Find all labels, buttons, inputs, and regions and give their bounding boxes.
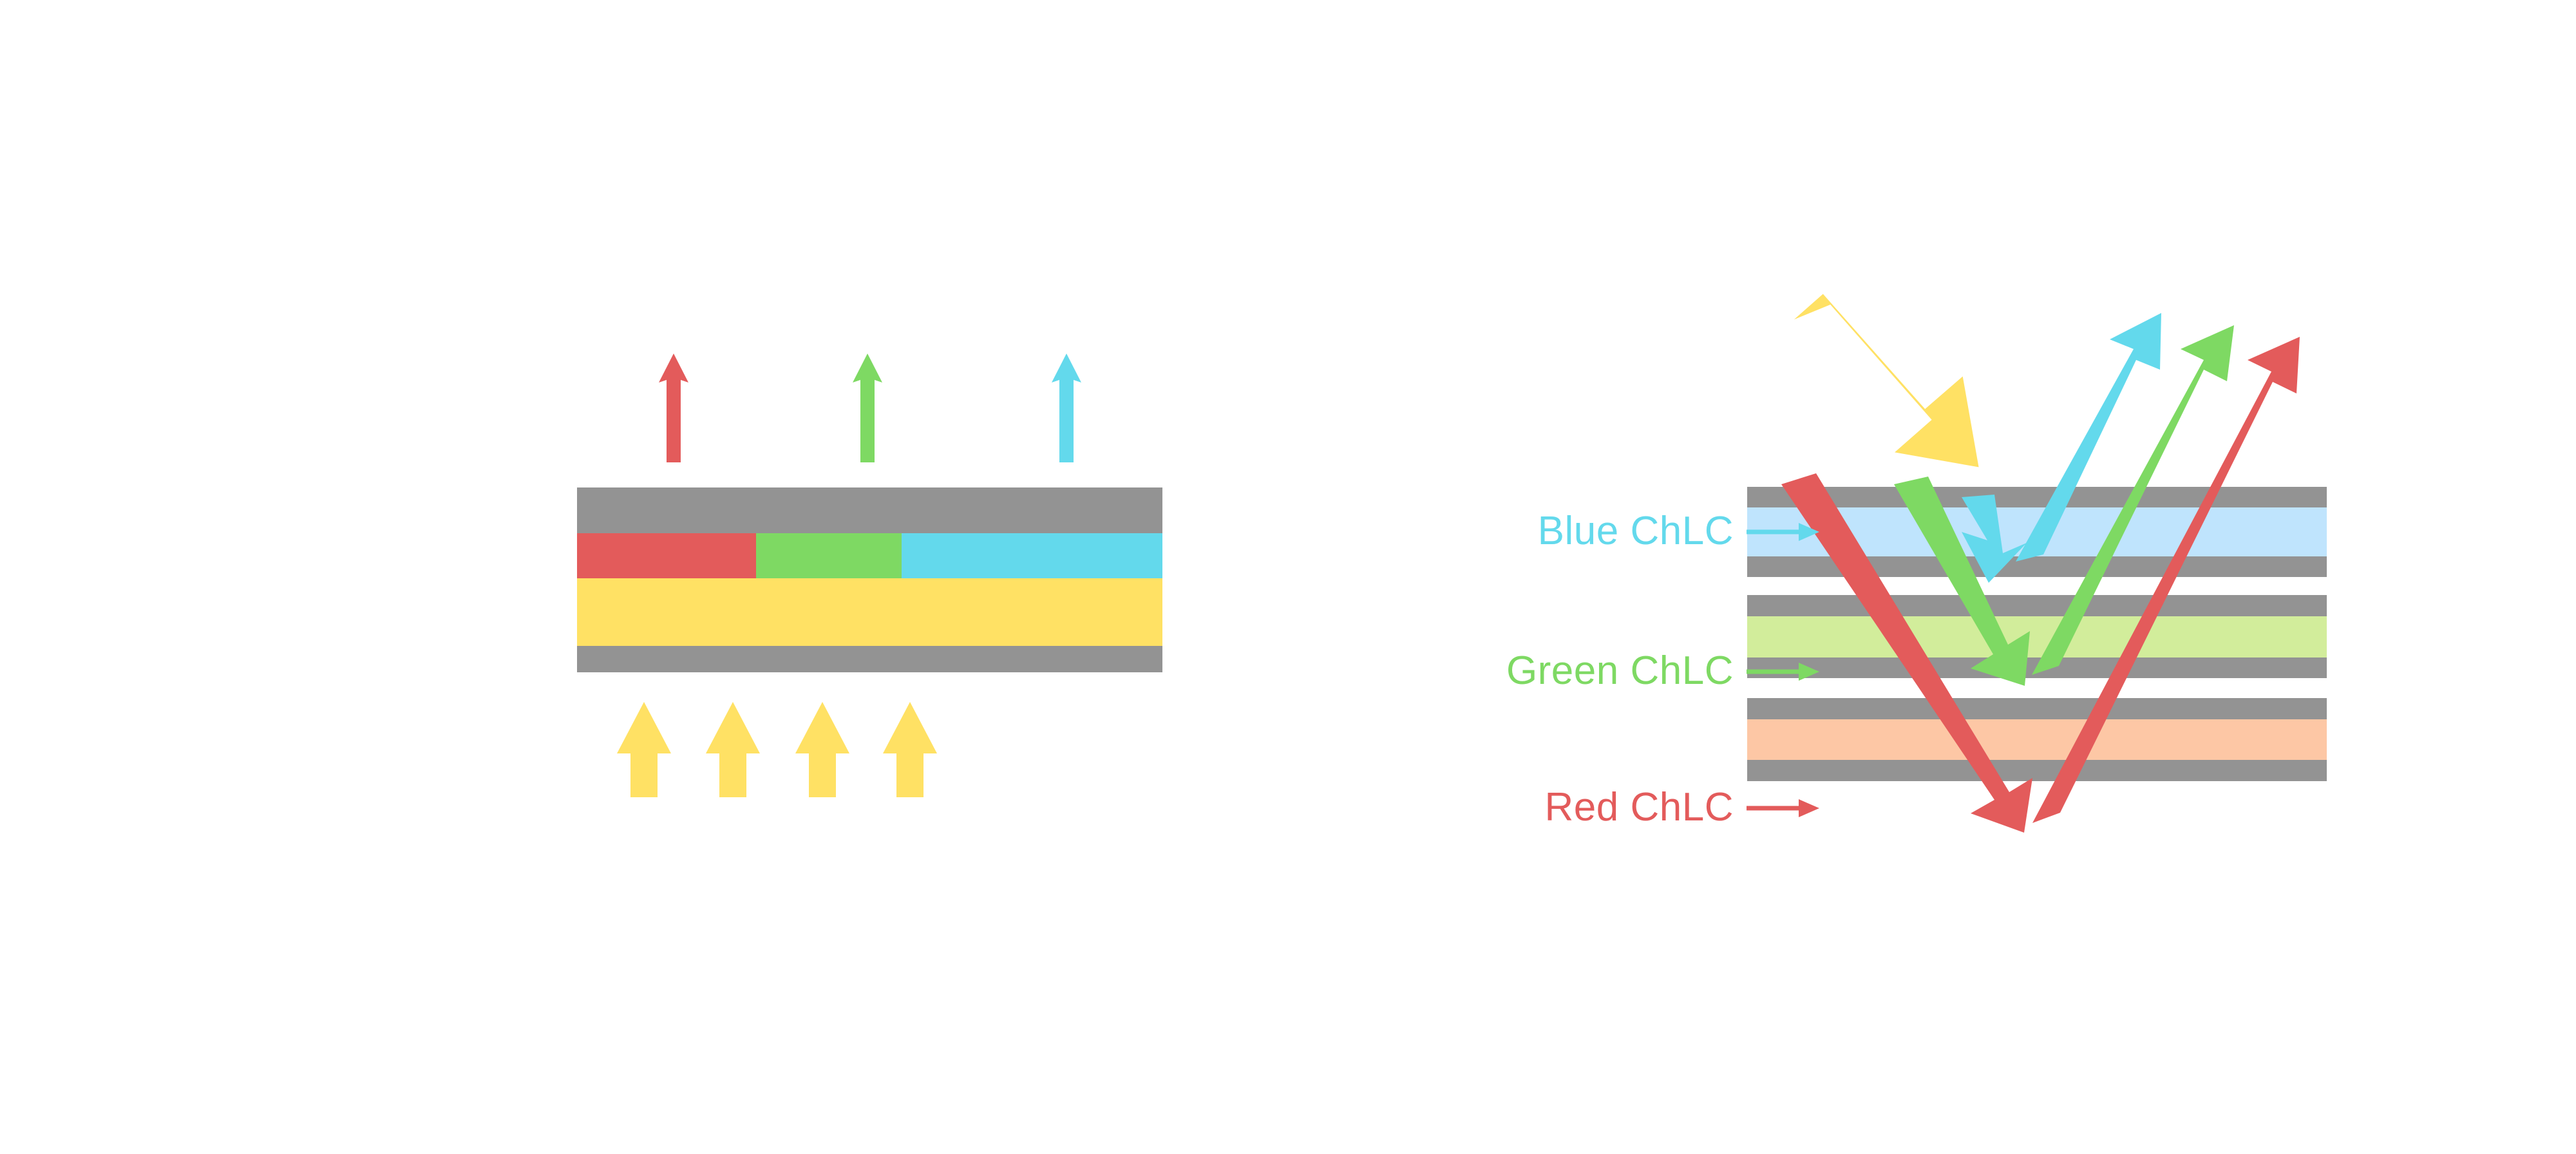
green-filter-segment [756, 533, 902, 578]
green-chlc-label-text: Green ChLC [1506, 648, 1734, 693]
top-gray-substrate [577, 487, 1162, 533]
red-cell-top-electrode [1747, 698, 2327, 719]
blue-filter-segment [902, 533, 1162, 578]
diagram-canvas: Blue ChLC Green ChLC Red ChLC [0, 0, 2576, 1154]
red-chlc-label-text: Red ChLC [1545, 785, 1734, 829]
diagram-svg: Blue ChLC Green ChLC Red ChLC [0, 0, 2576, 1154]
left-stack [577, 487, 1162, 672]
backlight-arrow-2 [706, 702, 760, 797]
backlight-arrow-1 [617, 702, 671, 797]
backlight-arrow-4 [883, 702, 937, 797]
green-cell-top-electrode [1747, 595, 2327, 616]
right-panel: Blue ChLC Green ChLC Red ChLC [1506, 276, 2327, 833]
incident-white-light-arrow [1791, 276, 1978, 489]
left-panel [577, 354, 1162, 797]
emitted-blue-arrow [1052, 354, 1081, 462]
red-chlc-layer [1747, 719, 2327, 760]
red-chlc-label: Red ChLC [1545, 785, 1819, 829]
bottom-gray-substrate [577, 646, 1162, 672]
emitted-red-arrow [659, 354, 688, 462]
red-filter-segment [577, 533, 756, 578]
blue-chlc-label-text: Blue ChLC [1538, 509, 1734, 553]
green-chlc-layer [1747, 616, 2327, 657]
red-chlc-label-arrow-icon [1747, 799, 1819, 817]
red-cell-bottom-electrode [1747, 760, 2327, 781]
yellow-backlight-layer [577, 578, 1162, 646]
emitted-green-arrow [853, 354, 882, 462]
backlight-arrow-3 [795, 702, 849, 797]
